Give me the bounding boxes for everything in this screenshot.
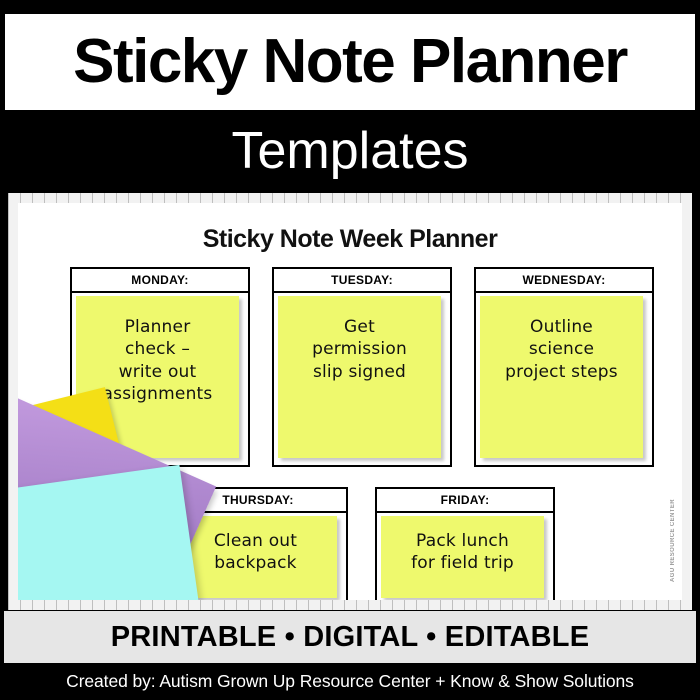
day-body-friday: Pack lunch for field trip bbox=[377, 513, 553, 600]
sticky-note-monday[interactable]: Planner check – write out assignments bbox=[76, 296, 239, 458]
sticky-note-text-friday: Pack lunch for field trip bbox=[381, 530, 544, 575]
sticky-note-text-wednesday: Outline science project steps bbox=[480, 316, 643, 383]
day-body-monday: Planner check – write out assignments bbox=[72, 293, 248, 465]
footer-bar: Created by: Autism Grown Up Resource Cen… bbox=[0, 663, 700, 700]
day-body-tuesday: Get permission slip signed bbox=[274, 293, 450, 465]
page-subtitle: Templates bbox=[232, 125, 469, 177]
day-label-thursday: THURSDAY: bbox=[170, 489, 346, 513]
day-body-thursday: Clean out backpack bbox=[170, 513, 346, 600]
day-label-wednesday: WEDNESDAY: bbox=[476, 269, 652, 293]
sticky-note-text-monday: Planner check – write out assignments bbox=[76, 316, 239, 406]
preview-page-frame: Sticky Note Week Planner MONDAY: Planner… bbox=[8, 193, 692, 610]
day-card-tuesday[interactable]: TUESDAY: Get permission slip signed bbox=[272, 267, 452, 467]
sticky-note-thursday[interactable]: Clean out backpack bbox=[174, 516, 337, 598]
day-label-monday: MONDAY: bbox=[72, 269, 248, 293]
footer-credit-text: Created by: Autism Grown Up Resource Cen… bbox=[66, 671, 634, 692]
product-title-bar: Sticky Note Planner bbox=[5, 14, 695, 110]
day-label-friday: FRIDAY: bbox=[377, 489, 553, 513]
day-label-tuesday: TUESDAY: bbox=[274, 269, 450, 293]
sticky-note-text-tuesday: Get permission slip signed bbox=[278, 316, 441, 383]
sticky-note-tuesday[interactable]: Get permission slip signed bbox=[278, 296, 441, 458]
day-card-thursday[interactable]: THURSDAY: Clean out backpack bbox=[168, 487, 348, 600]
watermark-text: AGU RESOURCE CENTER bbox=[670, 499, 676, 582]
page-title: Sticky Note Planner bbox=[73, 31, 627, 93]
day-card-monday[interactable]: MONDAY: Planner check – write out assign… bbox=[70, 267, 250, 467]
planner-heading: Sticky Note Week Planner bbox=[18, 225, 682, 254]
day-card-wednesday[interactable]: WEDNESDAY: Outline science project steps bbox=[474, 267, 654, 467]
feature-band-text: PRINTABLE • DIGITAL • EDITABLE bbox=[111, 621, 589, 654]
sticky-note-text-thursday: Clean out backpack bbox=[174, 530, 337, 575]
day-card-friday[interactable]: FRIDAY: Pack lunch for field trip bbox=[375, 487, 555, 600]
day-body-wednesday: Outline science project steps bbox=[476, 293, 652, 465]
product-subtitle-bar: Templates bbox=[0, 112, 700, 190]
feature-band: PRINTABLE • DIGITAL • EDITABLE bbox=[4, 611, 696, 663]
sticky-note-wednesday[interactable]: Outline science project steps bbox=[480, 296, 643, 458]
planner-sheet: Sticky Note Week Planner MONDAY: Planner… bbox=[18, 203, 682, 600]
sticky-note-friday[interactable]: Pack lunch for field trip bbox=[381, 516, 544, 598]
